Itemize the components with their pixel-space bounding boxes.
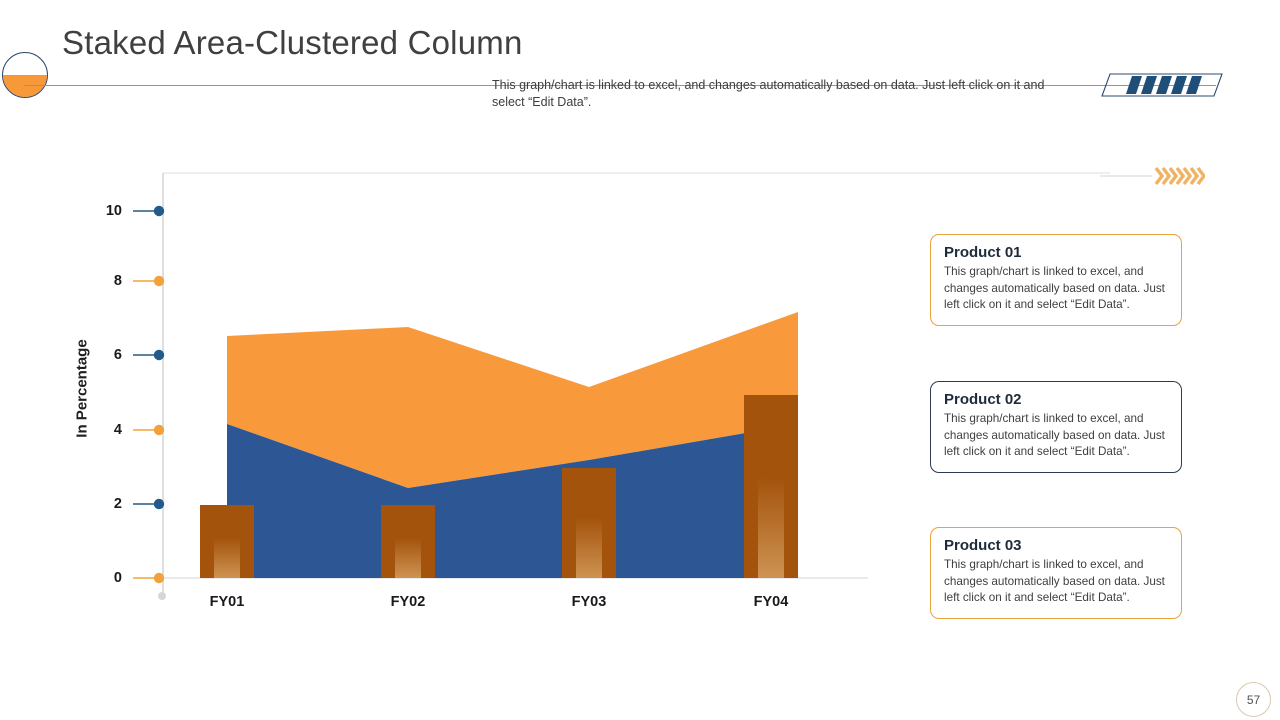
y-tick-6	[133, 350, 164, 360]
area-series-product02	[227, 312, 798, 488]
brand-logo-icon	[2, 52, 48, 98]
area-series-product01	[227, 424, 798, 578]
legend-card-product-03[interactable]: Product 03 This graph/chart is linked to…	[930, 527, 1182, 619]
x-tick-label-fy04: FY04	[726, 594, 816, 610]
legend-card-body: This graph/chart is linked to excel, and…	[944, 411, 1168, 461]
y-tick-0	[133, 573, 164, 583]
y-tick-label-8: 8	[82, 273, 122, 289]
bar-fy01	[200, 505, 254, 578]
y-axis-tick-markers	[133, 206, 166, 600]
y-axis-end-dot	[158, 592, 166, 600]
y-tick-10	[133, 206, 164, 216]
x-tick-label-fy02: FY02	[363, 594, 453, 610]
legend-card-body: This graph/chart is linked to excel, and…	[944, 264, 1168, 314]
header-note: This graph/chart is linked to excel, and…	[492, 77, 1072, 111]
y-tick-label-0: 0	[82, 570, 122, 586]
page-number-badge: 57	[1236, 682, 1271, 717]
y-tick-label-4: 4	[82, 422, 122, 438]
y-tick-8	[133, 276, 164, 286]
legend-card-title: Product 01	[944, 244, 1168, 261]
x-tick-label-fy03: FY03	[544, 594, 634, 610]
y-tick-label-2: 2	[82, 496, 122, 512]
diagonal-stripes-banner-icon	[1100, 72, 1224, 98]
bar-fy04	[744, 395, 798, 578]
column-series-product03	[200, 395, 798, 578]
bar-fy03	[562, 468, 616, 578]
double-chevron-right-icon	[1100, 163, 1205, 189]
legend-card-body: This graph/chart is linked to excel, and…	[944, 557, 1168, 607]
y-tick-label-6: 6	[82, 347, 122, 363]
page-title: Staked Area-Clustered Column	[62, 24, 523, 62]
bar-fy02	[381, 505, 435, 578]
legend-card-product-01[interactable]: Product 01 This graph/chart is linked to…	[930, 234, 1182, 326]
y-axis-title: In Percentage	[74, 299, 91, 479]
legend-card-title: Product 02	[944, 391, 1168, 408]
legend-card-title: Product 03	[944, 537, 1168, 554]
logo-fill	[3, 75, 47, 97]
legend-card-product-02[interactable]: Product 02 This graph/chart is linked to…	[930, 381, 1182, 473]
y-tick-4	[133, 425, 164, 435]
y-tick-2	[133, 499, 164, 509]
x-tick-label-fy01: FY01	[182, 594, 272, 610]
y-tick-label-10: 10	[82, 203, 122, 219]
